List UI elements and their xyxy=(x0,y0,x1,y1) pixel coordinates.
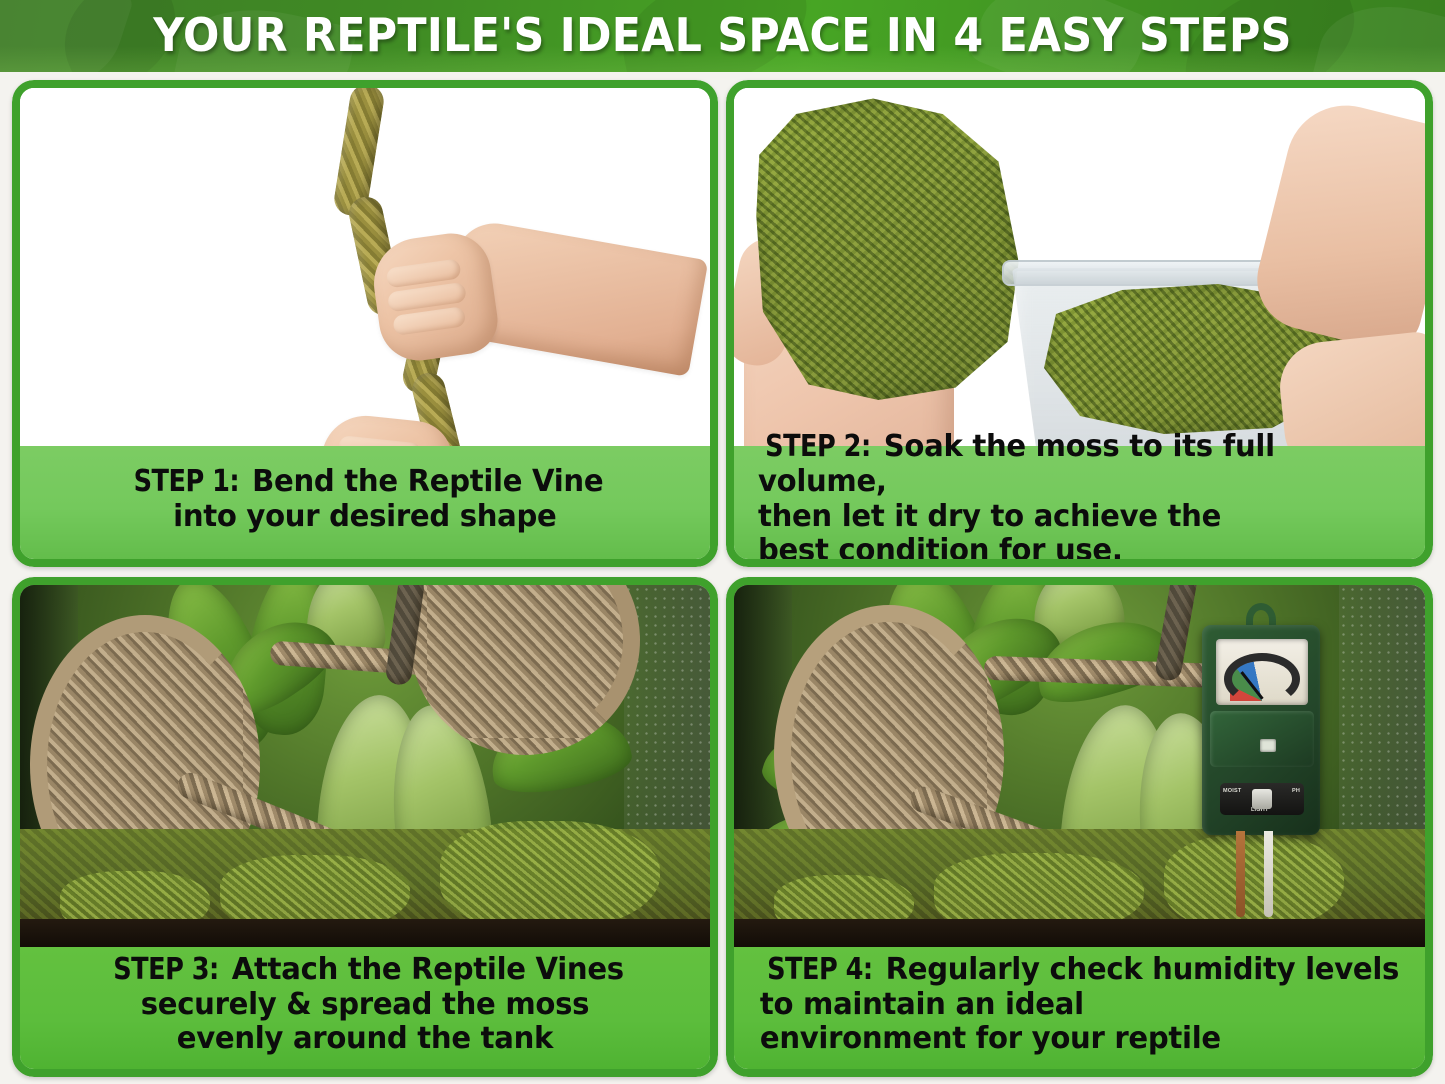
step-1-caption: STEP 1:Bend the Reptile Vineinto your de… xyxy=(20,446,710,559)
step-4-caption-text: STEP 4:Regularly check humidity levelsto… xyxy=(760,953,1399,1057)
step-3-line-3: evenly around the tank xyxy=(177,1021,553,1056)
step-2-caption: STEP 2:Soak the moss to its full volume,… xyxy=(734,446,1425,559)
step-card-2: STEP 2:Soak the moss to its full volume,… xyxy=(726,80,1433,567)
step-3-caption-text: STEP 3:Attach the Reptile Vinessecurely … xyxy=(106,953,624,1057)
meter-probe-copper xyxy=(1236,831,1245,917)
step-4-caption: STEP 4:Regularly check humidity levelsto… xyxy=(734,947,1425,1069)
step-4-line-3: environment for your reptile xyxy=(760,1021,1221,1056)
step-3-line-2: securely & spread the moss xyxy=(141,987,589,1022)
step-4-label: STEP 4: xyxy=(767,953,873,988)
meter-mode-switch[interactable]: MOIST PH LIGHT xyxy=(1220,783,1304,815)
meter-probe-white xyxy=(1264,831,1273,917)
page-title: YOUR REPTILE'S IDEAL SPACE IN 4 EASY STE… xyxy=(51,0,1395,72)
switch-knob[interactable] xyxy=(1252,789,1272,809)
step-1-line-1: Bend the Reptile Vine xyxy=(252,464,603,499)
meter-body: MOIST PH LIGHT xyxy=(1202,625,1320,835)
step-1-caption-text: STEP 1:Bend the Reptile Vineinto your de… xyxy=(127,465,604,535)
step-card-3-frame: STEP 3:Attach the Reptile Vinessecurely … xyxy=(12,577,718,1077)
header-banner: YOUR REPTILE'S IDEAL SPACE IN 4 EASY STE… xyxy=(0,0,1445,72)
step-3-photo xyxy=(20,585,710,947)
step-4-line-1: Regularly check humidity levels xyxy=(886,952,1399,987)
step-2-line-3: best condition for use. xyxy=(758,533,1123,567)
steps-grid: STEP 1:Bend the Reptile Vineinto your de… xyxy=(0,72,1445,1084)
lid-notch xyxy=(1260,739,1276,752)
step-3-line-1: Attach the Reptile Vines xyxy=(232,952,624,987)
step-2-label: STEP 2: xyxy=(765,430,871,465)
step-card-2-frame: STEP 2:Soak the moss to its full volume,… xyxy=(726,80,1433,567)
step-card-3: STEP 3:Attach the Reptile Vinessecurely … xyxy=(12,577,718,1077)
step-1-line-2: into your desired shape xyxy=(173,499,556,534)
upper-hand xyxy=(368,228,502,365)
step-card-1: STEP 1:Bend the Reptile Vineinto your de… xyxy=(12,80,718,567)
step-3-label: STEP 3: xyxy=(113,953,219,988)
moss-patch xyxy=(440,821,660,931)
step-4-line-2: to maintain an ideal xyxy=(760,987,1084,1022)
step-card-1-frame: STEP 1:Bend the Reptile Vineinto your de… xyxy=(12,80,718,567)
switch-label-ph: PH xyxy=(1292,788,1300,794)
step-2-caption-text: STEP 2:Soak the moss to its full volume,… xyxy=(758,430,1401,567)
step-card-4: MOIST PH LIGHT STEP 4:Regularly xyxy=(726,577,1433,1077)
step-1-label: STEP 1: xyxy=(134,465,240,500)
terrarium-tray xyxy=(734,919,1425,947)
meter-dial xyxy=(1216,639,1308,705)
terrarium-tray xyxy=(20,919,710,947)
step-2-photo xyxy=(734,88,1425,446)
step-card-4-frame: MOIST PH LIGHT STEP 4:Regularly xyxy=(726,577,1433,1077)
meter-lid xyxy=(1210,711,1314,767)
step-1-photo xyxy=(20,88,710,446)
humidity-meter: MOIST PH LIGHT xyxy=(1202,603,1322,933)
switch-label-moist: MOIST xyxy=(1223,788,1241,794)
step-3-caption: STEP 3:Attach the Reptile Vinessecurely … xyxy=(20,947,710,1069)
step-2-line-2: then let it dry to achieve the xyxy=(758,499,1221,534)
step-4-photo: MOIST PH LIGHT xyxy=(734,585,1425,947)
